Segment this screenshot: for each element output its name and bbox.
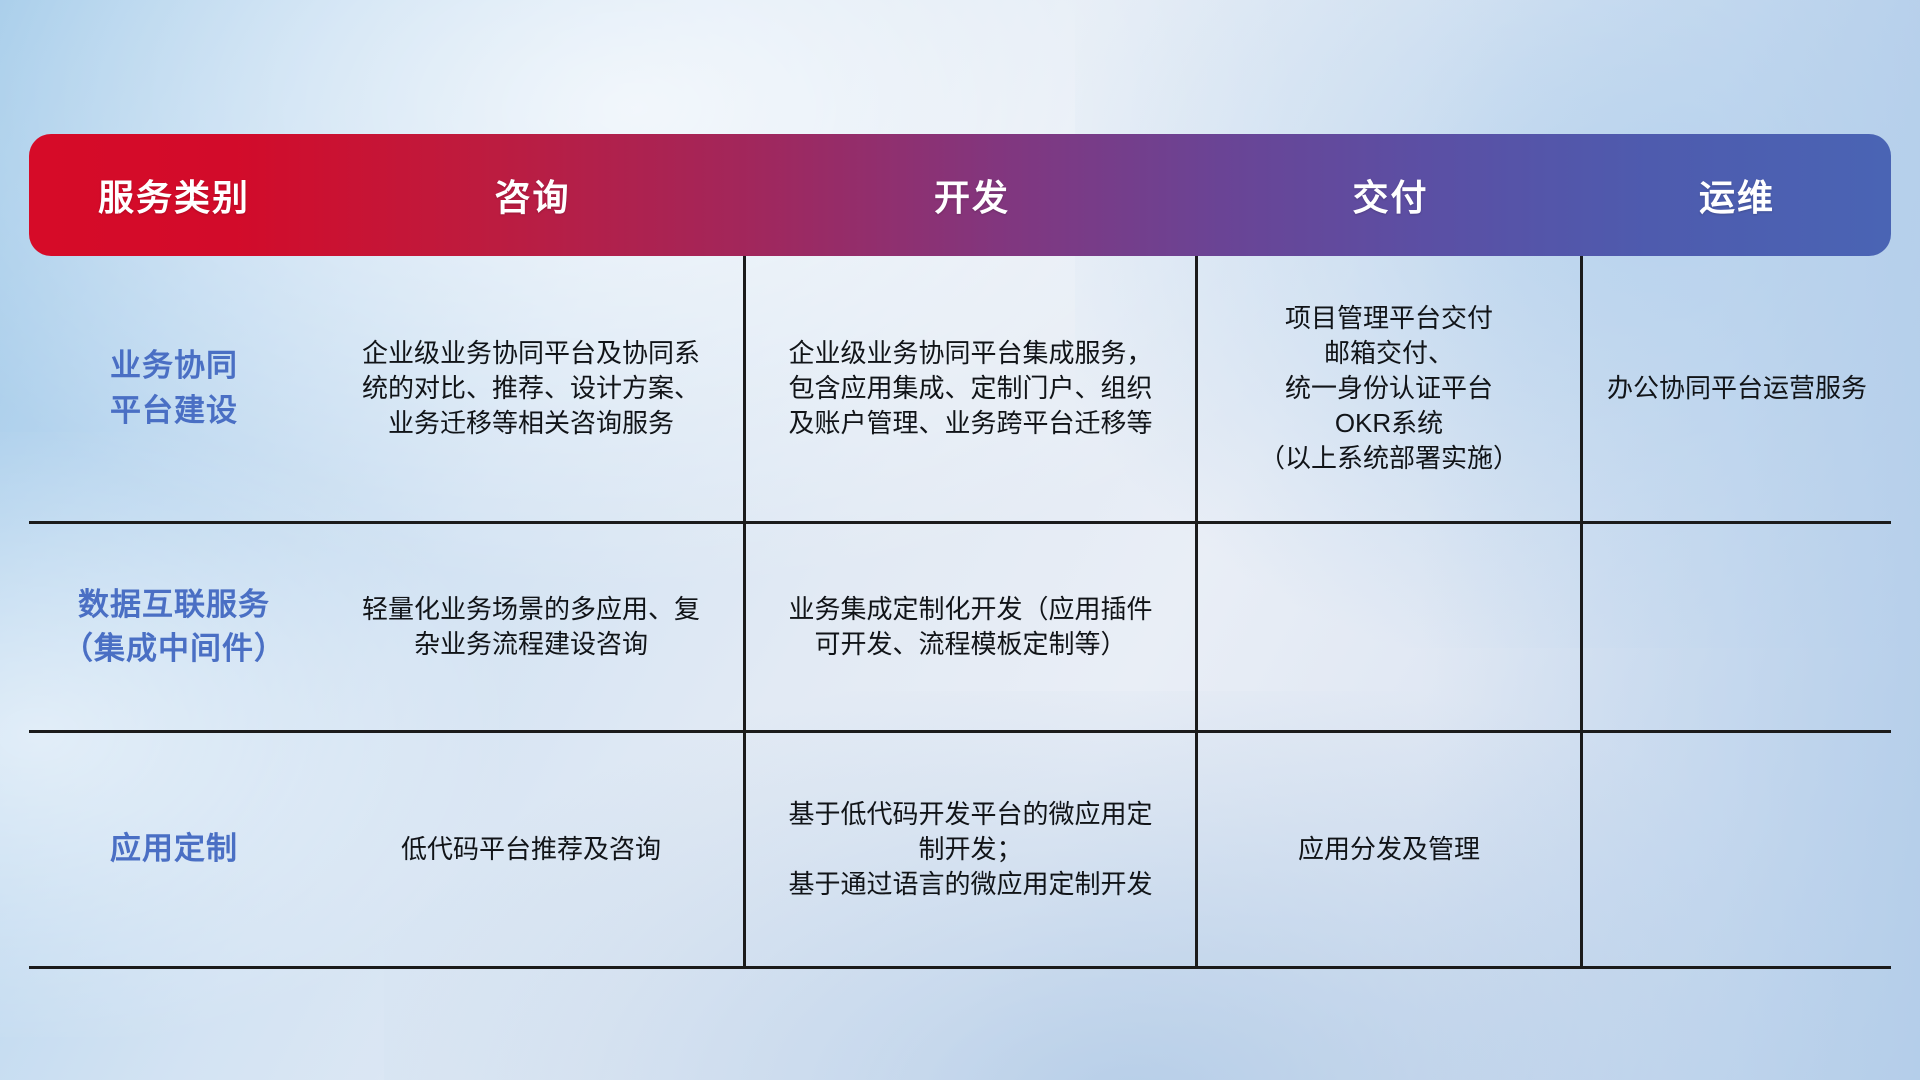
cell-delivery: 应用分发及管理	[1198, 733, 1583, 966]
table-row: 业务协同 平台建设 企业级业务协同平台及协同系 统的对比、推荐、设计方案、 业务…	[29, 256, 1891, 524]
row-category-label: 数据互联服务 （集成中间件）	[29, 524, 319, 730]
cell-development: 基于低代码开发平台的微应用定 制开发； 基于通过语言的微应用定制开发	[746, 733, 1198, 966]
row-category-label: 业务协同 平台建设	[29, 256, 319, 521]
table-row: 应用定制 低代码平台推荐及咨询 基于低代码开发平台的微应用定 制开发； 基于通过…	[29, 733, 1891, 969]
cell-operations	[1583, 524, 1891, 730]
service-category-table: 服务类别 咨询 开发 交付 运维 业务协同 平台建设 企业级业务协同平台及协同系…	[29, 134, 1891, 954]
cell-operations: 办公协同平台运营服务	[1583, 256, 1891, 521]
table-header-cell-consulting: 咨询	[319, 169, 746, 221]
cell-consulting: 低代码平台推荐及咨询	[319, 733, 746, 966]
table-header-cell-operations: 运维	[1583, 169, 1891, 221]
table-body: 业务协同 平台建设 企业级业务协同平台及协同系 统的对比、推荐、设计方案、 业务…	[29, 256, 1891, 969]
table-header-cell-service-category: 服务类别	[29, 169, 319, 221]
cell-delivery: 项目管理平台交付 邮箱交付、 统一身份认证平台 OKR系统 （以上系统部署实施）	[1198, 256, 1583, 521]
cell-development: 企业级业务协同平台集成服务， 包含应用集成、定制门户、组织 及账户管理、业务跨平…	[746, 256, 1198, 521]
table-header-row: 服务类别 咨询 开发 交付 运维	[29, 134, 1891, 256]
table-header-cell-development: 开发	[746, 169, 1198, 221]
cell-consulting: 轻量化业务场景的多应用、复 杂业务流程建设咨询	[319, 524, 746, 730]
cell-delivery	[1198, 524, 1583, 730]
table-row: 数据互联服务 （集成中间件） 轻量化业务场景的多应用、复 杂业务流程建设咨询 业…	[29, 524, 1891, 733]
row-category-label: 应用定制	[29, 733, 319, 966]
cell-operations	[1583, 733, 1891, 966]
table-header-cell-delivery: 交付	[1198, 169, 1583, 221]
cell-consulting: 企业级业务协同平台及协同系 统的对比、推荐、设计方案、 业务迁移等相关咨询服务	[319, 256, 746, 521]
cell-development: 业务集成定制化开发（应用插件 可开发、流程模板定制等）	[746, 524, 1198, 730]
